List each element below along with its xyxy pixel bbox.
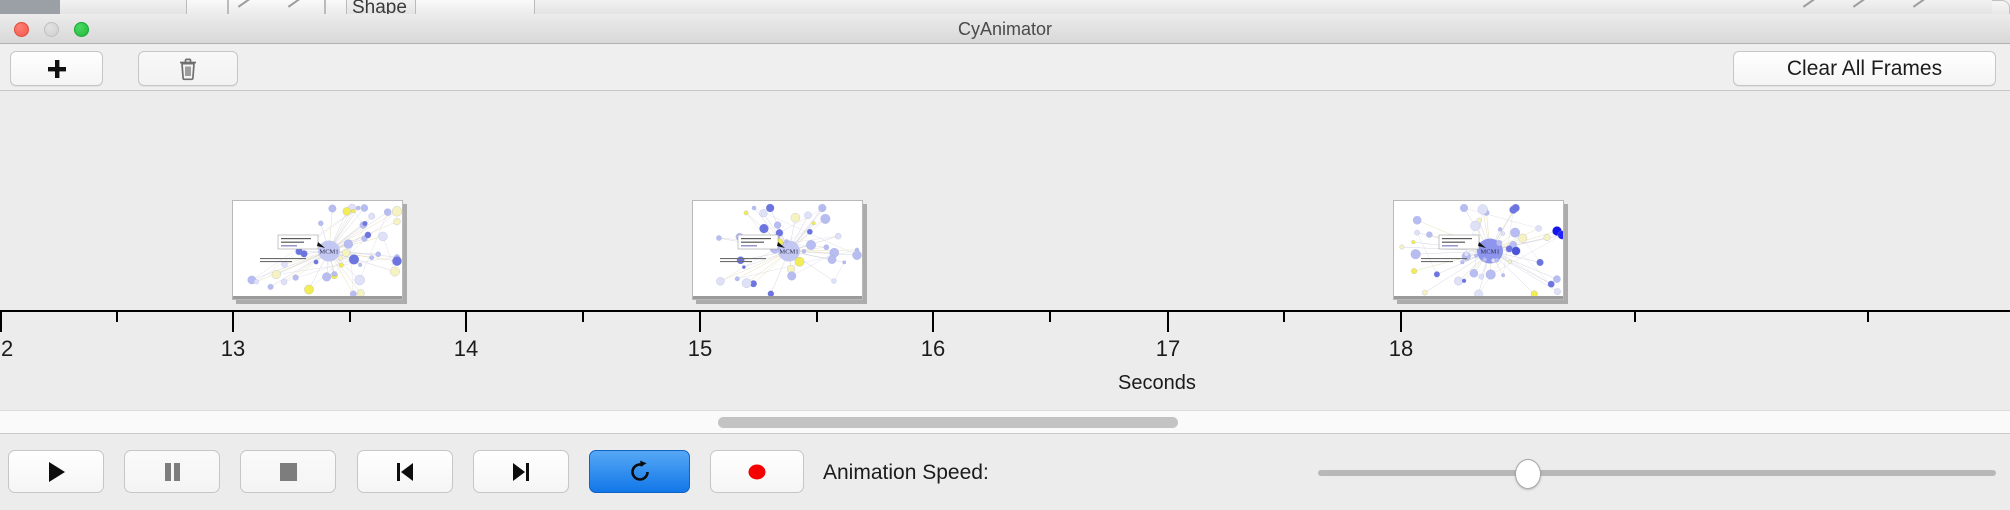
playback-controls: Animation Speed: (0, 435, 2010, 510)
add-frame-button[interactable] (10, 51, 103, 86)
frame-thumbnail[interactable]: MCM1 (1393, 200, 1564, 300)
background-dark-tab (0, 0, 60, 14)
ruler-tick (1400, 312, 1402, 332)
background-segment (415, 0, 535, 14)
ruler-tick (0, 312, 2, 332)
frame-thumbnail[interactable]: MCM1 (692, 200, 863, 300)
stop-icon (275, 459, 301, 485)
ruler-tick-label: 12 (0, 336, 31, 362)
ruler-tick (349, 312, 351, 322)
pause-button[interactable] (124, 450, 220, 493)
background-window-corner (1992, 0, 2010, 14)
play-icon (43, 459, 69, 485)
clear-all-frames-button[interactable]: Clear All Frames (1733, 51, 1996, 86)
ruler-tick-label: 14 (436, 336, 496, 362)
hub-node-label: MCM1 (779, 249, 798, 256)
ruler-tick-label: 17 (1138, 336, 1198, 362)
ruler-tick-label: 18 (1371, 336, 1431, 362)
network-thumbnail: MCM1 (233, 201, 403, 300)
background-segment (325, 0, 347, 14)
ruler-tick (1634, 312, 1636, 322)
network-thumbnail: MCM1 (693, 201, 863, 300)
record-icon (744, 459, 770, 485)
play-button[interactable] (8, 450, 104, 493)
ruler-tick (699, 312, 701, 332)
ruler-tick (1283, 312, 1285, 322)
record-button[interactable] (710, 450, 804, 493)
frame-thumbnail[interactable]: MCM1 (232, 200, 403, 300)
cyanimator-window: Shape CyAnimator Clear All F (0, 0, 2010, 510)
skip-to-end-button[interactable] (473, 450, 569, 493)
ruler-tick (1867, 312, 1869, 322)
ruler-tick (932, 312, 934, 332)
skip-to-start-icon (392, 459, 418, 485)
pause-icon (159, 459, 185, 485)
skip-to-start-button[interactable] (357, 450, 453, 493)
background-tick-mark (1853, 0, 1874, 14)
plus-icon (46, 58, 68, 80)
ruler-tick (232, 312, 234, 332)
skip-to-end-icon (508, 459, 534, 485)
ruler-axis-line (0, 310, 2010, 312)
ruler-tick (816, 312, 818, 322)
animation-speed-label: Animation Speed: (823, 461, 989, 485)
stop-button[interactable] (240, 450, 336, 493)
loop-icon (626, 458, 654, 486)
background-segment (186, 0, 228, 14)
background-tick-mark (1803, 0, 1824, 14)
slider-thumb[interactable] (1515, 459, 1541, 489)
scrollbar-thumb[interactable] (718, 417, 1178, 428)
ruler-axis-title: Seconds (1118, 372, 1196, 395)
titlebar: CyAnimator (0, 14, 2010, 44)
ruler-tick (1049, 312, 1051, 322)
trash-icon (177, 57, 199, 81)
timeline-panel[interactable]: MCM1MCM1MCM1 Seconds 12131415161718 (0, 92, 2010, 410)
loop-button[interactable] (589, 450, 690, 493)
window-title: CyAnimator (0, 14, 2010, 44)
hub-node-label: MCM1 (319, 249, 338, 256)
background-shape-label: Shape (352, 0, 407, 14)
ruler-tick-label: 15 (670, 336, 730, 362)
delete-frame-button[interactable] (138, 51, 238, 86)
ruler-tick (465, 312, 467, 332)
clear-all-frames-label: Clear All Frames (1787, 57, 1942, 81)
frame-toolbar: Clear All Frames (0, 45, 2010, 91)
ruler-tick-label: 16 (903, 336, 963, 362)
network-thumbnail: MCM1 (1394, 201, 1564, 300)
background-window-strip: Shape (0, 0, 2010, 14)
frames-track[interactable]: MCM1MCM1MCM1 (0, 92, 2010, 310)
ruler-tick (116, 312, 118, 322)
slider-track (1318, 470, 1996, 476)
timeline-ruler: Seconds 12131415161718 (0, 310, 2010, 410)
ruler-tick (1167, 312, 1169, 332)
ruler-tick (582, 312, 584, 322)
animation-speed-slider[interactable] (1318, 463, 1996, 483)
background-tick-mark (1913, 0, 1934, 14)
ruler-tick-label: 13 (203, 336, 263, 362)
timeline-hscrollbar[interactable] (0, 410, 2010, 434)
hub-node-label: MCM1 (1480, 249, 1499, 256)
